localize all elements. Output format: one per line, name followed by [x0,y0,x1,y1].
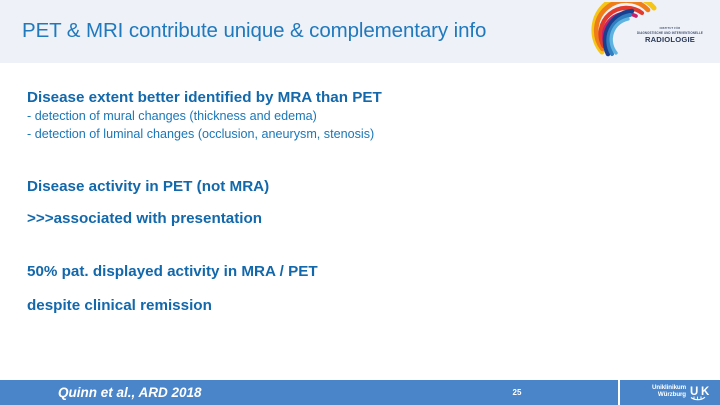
block-2-heading-2: >>>associated with presentation [27,209,627,229]
footer-citation: Quinn et al., ARD 2018 [58,385,202,400]
slide-body: Disease extent better identified by MRA … [27,88,627,316]
block-3-heading: 50% pat. displayed activity in MRA / PET [27,262,627,282]
uk-logo-line2: Würzburg [640,392,686,399]
institute-logo-line3: RADIOLOGIE [632,36,708,44]
block-1-heading: Disease extent better identified by MRA … [27,88,627,108]
spacer [27,282,627,296]
uk-monogram-icon: U K [689,383,714,401]
svg-text:U: U [690,386,698,398]
institute-logo-line2: DIAGNOSTISCHE UND INTERVENTIONELLE [632,32,708,35]
spacer [27,197,627,209]
content-block-1: Disease extent better identified by MRA … [27,88,627,144]
slide: PET & MRI contribute unique & complement… [0,0,720,405]
block-1-bullet-2: - detection of luminal changes (occlusio… [27,126,627,144]
page-number: 25 [505,388,529,397]
uniklinikum-wuerzburg-logo: Uniklinikum Würzburg U K [640,383,714,402]
spacer [27,144,627,177]
institute-radiology-logo: INSTITUT FÜR DIAGNOSTISCHE UND INTERVENT… [588,2,712,60]
block-1-bullet-1: - detection of mural changes (thickness … [27,108,627,126]
spacer [27,229,627,262]
uk-logo-wordmark: Uniklinikum Würzburg [640,385,686,399]
slide-header: PET & MRI contribute unique & complement… [0,0,720,63]
block-3-heading-2: despite clinical remission [27,296,627,316]
block-2-heading: Disease activity in PET (not MRA) [27,177,627,197]
slide-footer: Quinn et al., ARD 2018 25 [0,380,720,405]
content-block-2: Disease activity in PET (not MRA) >>>ass… [27,177,627,229]
svg-text:K: K [701,386,710,398]
footer-divider [618,380,620,405]
page-title: PET & MRI contribute unique & complement… [22,19,486,43]
institute-logo-text: INSTITUT FÜR DIAGNOSTISCHE UND INTERVENT… [632,28,708,43]
content-block-3: 50% pat. displayed activity in MRA / PET… [27,262,627,316]
